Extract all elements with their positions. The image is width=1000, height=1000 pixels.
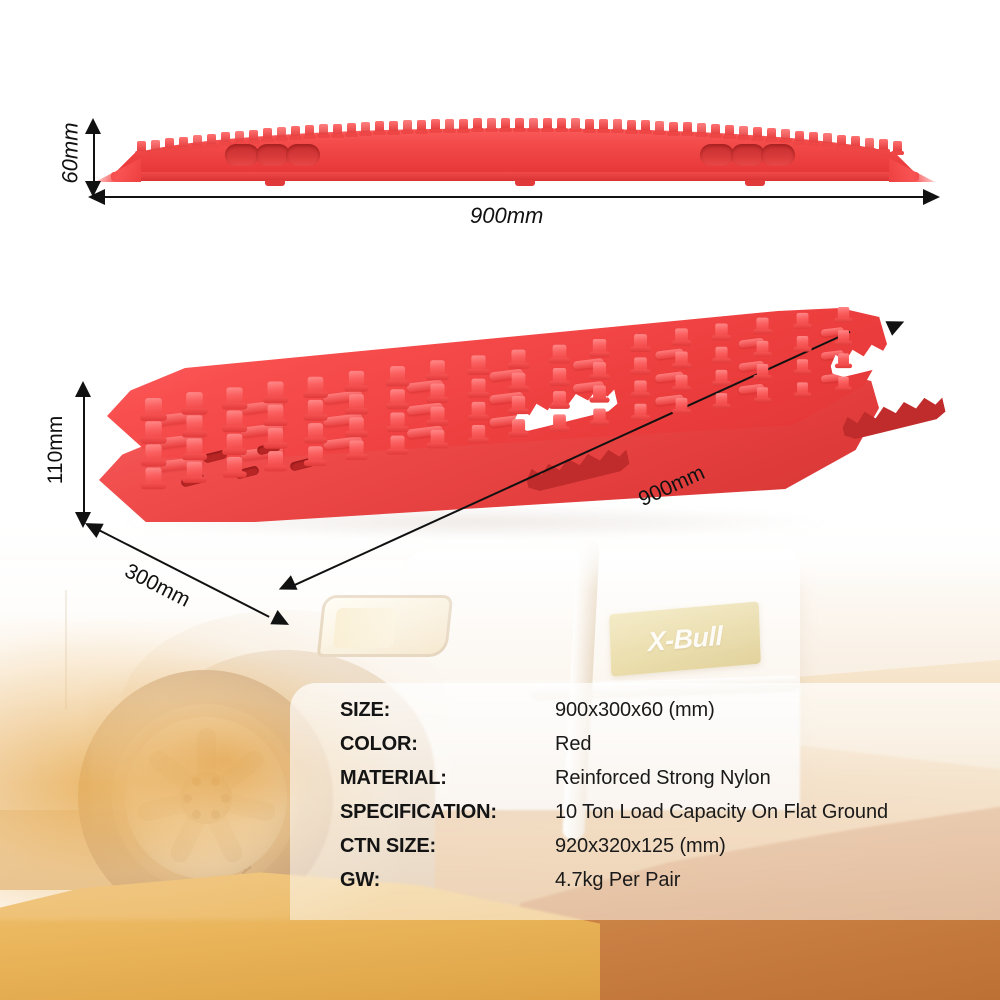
tread-cleat: [227, 457, 242, 474]
spec-row: GW:4.7kg Per Pair: [340, 869, 888, 903]
tread-cleat: [838, 353, 849, 365]
side-stud: [655, 121, 664, 132]
side-stud: [459, 119, 468, 130]
side-stud: [767, 128, 776, 139]
spec-value: 10 Ton Load Capacity On Flat Ground: [555, 801, 888, 824]
side-profile-stud-row: [117, 118, 917, 134]
tread-cleat: [634, 357, 647, 371]
spec-value: Reinforced Strong Nylon: [555, 767, 771, 790]
tread-cleat: [757, 387, 768, 400]
tread-cleat: [675, 398, 687, 411]
spec-label: CTN SIZE:: [340, 835, 555, 858]
tread-cleat: [634, 380, 646, 394]
tread-cleat: [145, 444, 161, 462]
tread-cleat: [553, 368, 566, 383]
tread-cleat: [308, 423, 323, 440]
side-stud: [599, 119, 608, 130]
side-stud: [305, 125, 314, 136]
spec-label: COLOR:: [340, 733, 555, 756]
dim-60-arrowhead-up: [85, 118, 101, 134]
side-stud: [529, 118, 538, 129]
tread-cleat: [227, 410, 243, 428]
cutout-lobe: [731, 144, 765, 166]
side-stud: [851, 136, 860, 147]
side-stud: [753, 127, 762, 138]
tread-cleat: [349, 418, 364, 434]
tread-cleat: [186, 416, 202, 434]
side-stud: [571, 118, 580, 129]
tread-cleat: [430, 361, 445, 377]
tread-cleat: [390, 435, 404, 451]
cutout-lobe: [761, 144, 795, 166]
tread-cleat: [594, 409, 606, 423]
dim-110-line: [83, 390, 85, 518]
tread-cleat: [634, 403, 646, 417]
side-stud: [683, 122, 692, 133]
side-stud: [543, 118, 552, 129]
spec-value: 4.7kg Per Pair: [555, 869, 680, 892]
tread-cleat: [471, 402, 485, 417]
spec-value: 900x300x60 (mm): [555, 699, 715, 722]
side-stud: [319, 124, 328, 135]
tread-cleat: [797, 336, 809, 349]
tread-cleat: [838, 330, 849, 343]
tread-cleat: [349, 371, 364, 388]
side-stud: [207, 134, 216, 145]
side-stud: [235, 131, 244, 142]
side-stud: [151, 140, 160, 151]
tread-cleat: [512, 350, 526, 366]
tread-cleat: [838, 377, 849, 389]
side-stud: [557, 118, 566, 129]
tread-cleat: [389, 366, 404, 383]
spec-label: SIZE:: [340, 699, 555, 722]
dim-60mm-label: 60mm: [58, 122, 84, 183]
tread-cleat: [308, 377, 324, 395]
spec-row: SIZE:900x300x60 (mm): [340, 699, 888, 733]
product-iso-view: [85, 280, 955, 580]
side-foot-nub: [265, 180, 285, 186]
tread-cleat: [512, 373, 526, 388]
tread-cleat: [349, 394, 364, 411]
tread-cleat: [186, 439, 202, 457]
tread-cleat: [757, 364, 769, 377]
xbull-logo-text: X-Bull: [647, 620, 723, 658]
side-profile-tip-left: [95, 158, 141, 182]
side-stud: [333, 124, 342, 135]
tread-cleat: [146, 468, 162, 486]
tread-cleat: [186, 462, 202, 479]
tread-cleat: [431, 430, 445, 445]
cutout-lobe: [256, 144, 290, 166]
dim-900-top-arrowhead-left: [88, 189, 105, 205]
spec-label: MATERIAL:: [340, 767, 555, 790]
side-stud: [865, 138, 874, 149]
tread-cleat: [594, 386, 607, 400]
spec-row: CTN SIZE:920x320x125 (mm): [340, 835, 888, 869]
side-stud: [697, 123, 706, 134]
side-stud: [445, 119, 454, 130]
tread-cleat: [553, 414, 566, 428]
side-stud: [893, 141, 902, 152]
side-stud: [291, 126, 300, 137]
side-foot-nub: [745, 180, 765, 186]
specification-panel: SIZE:900x300x60 (mm)COLOR:RedMATERIAL:Re…: [290, 683, 1000, 920]
tread-cleat: [145, 421, 162, 440]
tread-cleat: [634, 334, 647, 349]
cutout-lobe: [225, 144, 259, 166]
tread-cleat: [430, 384, 444, 400]
tread-cleat: [145, 398, 162, 417]
side-handle-cutout-right: [700, 144, 795, 166]
side-stud: [347, 123, 356, 134]
tread-cleat: [797, 382, 808, 394]
tread-cleat: [267, 382, 283, 400]
tread-cleat: [308, 446, 323, 462]
tread-cleat: [552, 344, 566, 359]
spec-row: COLOR:Red: [340, 733, 888, 767]
side-stud: [487, 118, 496, 129]
spec-row: MATERIAL:Reinforced Strong Nylon: [340, 767, 888, 801]
side-stud: [473, 118, 482, 129]
tread-cleat: [716, 369, 728, 382]
side-foot-nub: [515, 180, 535, 186]
spec-value: Red: [555, 733, 591, 756]
side-stud: [613, 119, 622, 130]
specification-table: SIZE:900x300x60 (mm)COLOR:RedMATERIAL:Re…: [340, 699, 888, 903]
side-stud: [417, 120, 426, 131]
side-stud: [501, 118, 510, 129]
side-stud: [375, 121, 384, 132]
tread-cleat: [715, 323, 728, 337]
side-stud: [221, 132, 230, 143]
dim-110-arrowhead-up: [75, 381, 91, 397]
tread-cleat: [512, 419, 525, 434]
side-stud: [823, 133, 832, 144]
side-stud: [739, 126, 748, 137]
side-stud: [277, 127, 286, 138]
side-stud: [403, 120, 412, 131]
dim-900mm-top-label: 900mm: [470, 203, 543, 229]
tread-cleat: [716, 346, 728, 360]
side-stud: [781, 129, 790, 140]
tread-cleat: [797, 359, 808, 372]
tread-cleat: [471, 378, 485, 394]
tread-cleat: [267, 405, 283, 423]
tread-cleat: [716, 393, 727, 406]
tread-cleat: [431, 407, 445, 423]
tread-cleat: [838, 307, 850, 320]
tread-cleat: [349, 441, 363, 457]
dim-900-top-line: [104, 196, 924, 198]
side-stud: [879, 139, 888, 150]
tread-cleat: [308, 400, 323, 417]
side-stud: [137, 141, 146, 152]
tread-cleat: [268, 452, 283, 469]
tread-cleat: [390, 412, 404, 428]
side-stud: [165, 138, 174, 149]
product-side-profile-view: [95, 110, 935, 200]
side-stud: [361, 122, 370, 133]
side-stud: [585, 119, 594, 130]
side-stud: [389, 121, 398, 132]
dim-110mm-label: 110mm: [44, 416, 68, 484]
dim-60-line: [93, 125, 95, 187]
tread-cleat: [471, 355, 485, 371]
tread-cleat: [512, 396, 525, 411]
tread-cleat: [675, 375, 687, 389]
side-handle-cutout-left: [225, 144, 320, 166]
tread-cleat: [756, 318, 768, 332]
side-stud: [263, 128, 272, 139]
side-stud: [809, 132, 818, 143]
side-stud: [249, 130, 258, 141]
tread-cleat: [797, 312, 809, 325]
side-stud: [725, 125, 734, 136]
cutout-lobe: [286, 144, 320, 166]
side-stud: [193, 135, 202, 146]
tread-cleat: [593, 362, 606, 377]
side-stud: [669, 122, 678, 133]
tread-cleat: [553, 391, 566, 406]
spec-value: 920x320x125 (mm): [555, 835, 726, 858]
dim-900-top-arrowhead-right: [923, 189, 940, 205]
tread-cleat: [390, 389, 405, 405]
side-stud: [711, 124, 720, 135]
tread-cleat: [471, 425, 484, 440]
tread-cleat: [756, 341, 768, 354]
tread-cleat: [268, 428, 283, 445]
side-stud: [627, 120, 636, 131]
cutout-lobe: [700, 144, 734, 166]
spec-label: SPECIFICATION:: [340, 801, 555, 824]
tread-cleat: [227, 434, 243, 452]
xbull-logo-plate: X-Bull: [609, 601, 761, 676]
tread-cleat: [593, 339, 606, 354]
side-stud: [795, 131, 804, 142]
tread-cleat: [675, 352, 687, 366]
spec-label: GW:: [340, 869, 555, 892]
side-stud: [641, 120, 650, 131]
side-stud: [515, 118, 524, 129]
tread-cleat: [226, 387, 242, 405]
side-stud: [431, 119, 440, 130]
side-stud: [179, 137, 188, 148]
tread-cleat: [675, 328, 688, 342]
spec-row: SPECIFICATION:10 Ton Load Capacity On Fl…: [340, 801, 888, 835]
side-stud: [837, 135, 846, 146]
tread-cleat: [186, 393, 203, 412]
